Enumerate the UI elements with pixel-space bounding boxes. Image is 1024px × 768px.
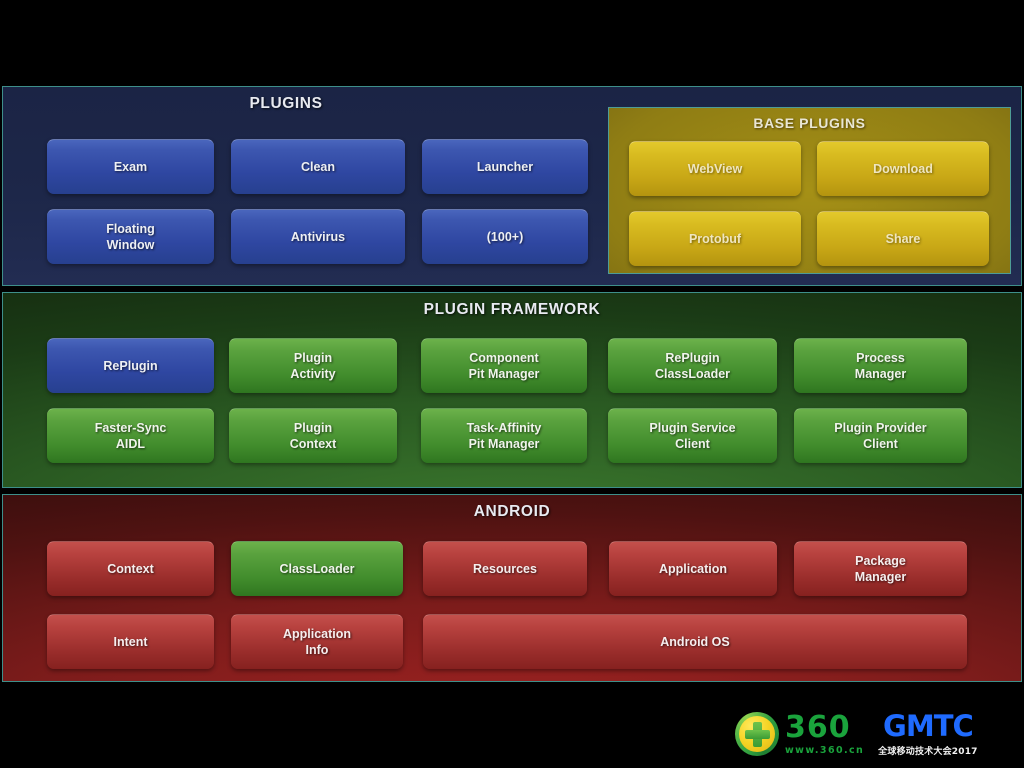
plugin-box-launcher[interactable]: Launcher: [422, 139, 588, 194]
framework-box-component-pit-manager[interactable]: Component Pit Manager: [421, 338, 587, 393]
framework-box-plugin-provider-client[interactable]: Plugin Provider Client: [794, 408, 967, 463]
framework-box-replugin-classloader[interactable]: RePlugin ClassLoader: [608, 338, 777, 393]
android-box-android-os[interactable]: Android OS: [423, 614, 967, 669]
layer-android: ANDROID Context ClassLoader Resources Ap…: [2, 494, 1022, 682]
framework-box-grid: RePlugin Plugin Activity Component Pit M…: [3, 293, 1021, 487]
layer-plugin-framework: PLUGIN FRAMEWORK RePlugin Plugin Activit…: [2, 292, 1022, 488]
logo-360-url: www.360.cn: [785, 745, 864, 756]
framework-box-plugin-service-client[interactable]: Plugin Service Client: [608, 408, 777, 463]
plugin-box-more-count[interactable]: (100+): [422, 209, 588, 264]
android-box-grid: Context ClassLoader Resources Applicatio…: [3, 495, 1021, 681]
android-box-resources[interactable]: Resources: [423, 541, 587, 596]
framework-box-process-manager[interactable]: Process Manager: [794, 338, 967, 393]
360-shield-icon: [735, 712, 779, 756]
logo-gmtc-subtitle: 全球移动技术大会2017: [878, 744, 977, 757]
base-plugins-title: BASE PLUGINS: [609, 115, 1010, 131]
android-box-application-info[interactable]: Application Info: [231, 614, 403, 669]
layer-plugins: PLUGINS Exam Clean Launcher Floating Win…: [2, 86, 1022, 286]
framework-box-task-affinity-pit-manager[interactable]: Task-Affinity Pit Manager: [421, 408, 587, 463]
android-box-context[interactable]: Context: [47, 541, 214, 596]
framework-box-replugin[interactable]: RePlugin: [47, 338, 214, 393]
android-box-classloader[interactable]: ClassLoader: [231, 541, 403, 596]
android-box-package-manager[interactable]: Package Manager: [794, 541, 967, 596]
plugin-box-exam[interactable]: Exam: [47, 139, 214, 194]
branding-logo-bar: 360 www.360.cn GMTC 全球移动技术大会2017: [735, 706, 1020, 762]
base-plugin-box-download[interactable]: Download: [817, 141, 989, 196]
framework-box-plugin-context[interactable]: Plugin Context: [229, 408, 397, 463]
slide-canvas: PLUGINS Exam Clean Launcher Floating Win…: [0, 0, 1024, 768]
logo-360: 360 www.360.cn: [735, 712, 864, 756]
base-plugin-box-share[interactable]: Share: [817, 211, 989, 266]
plugin-box-clean[interactable]: Clean: [231, 139, 405, 194]
plugin-box-floating-window[interactable]: Floating Window: [47, 209, 214, 264]
logo-gmtc: GMTC 全球移动技术大会2017: [878, 712, 977, 757]
logo-360-text: 360 www.360.cn: [785, 713, 864, 756]
logo-gmtc-wordmark: GMTC: [883, 712, 973, 741]
framework-box-plugin-activity[interactable]: Plugin Activity: [229, 338, 397, 393]
logo-360-wordmark: 360: [785, 713, 864, 743]
base-plugin-box-webview[interactable]: WebView: [629, 141, 801, 196]
base-plugins-panel: BASE PLUGINS WebView Download Protobuf S…: [608, 107, 1011, 274]
android-box-intent[interactable]: Intent: [47, 614, 214, 669]
android-box-application[interactable]: Application: [609, 541, 777, 596]
framework-box-faster-sync-aidl[interactable]: Faster-Sync AIDL: [47, 408, 214, 463]
base-plugin-box-protobuf[interactable]: Protobuf: [629, 211, 801, 266]
plugin-box-antivirus[interactable]: Antivirus: [231, 209, 405, 264]
